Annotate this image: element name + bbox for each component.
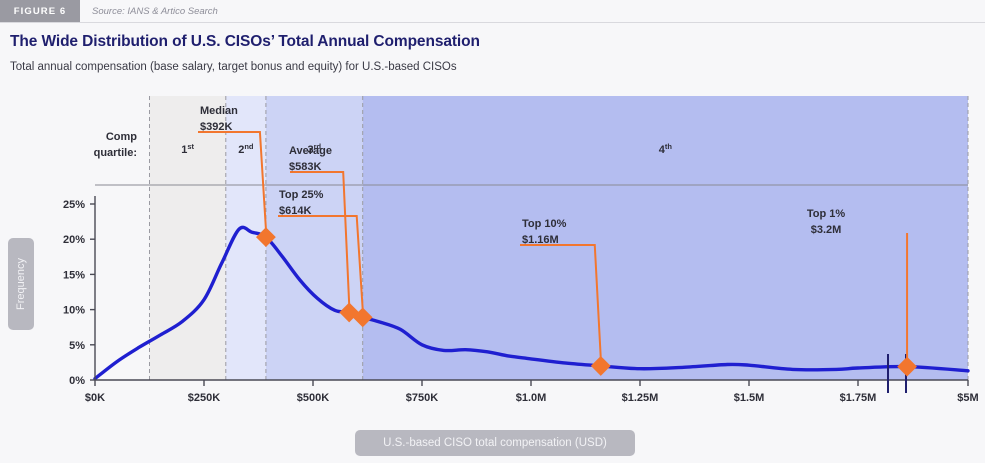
x-tick-label: $1.25M (622, 392, 659, 404)
annotation-value: $614K (279, 205, 311, 217)
annotation-name: Median (200, 105, 238, 117)
page-subtitle: Total annual compensation (base salary, … (10, 61, 457, 73)
y-tick-label: 5% (69, 340, 85, 352)
x-tick-label: $750K (406, 392, 438, 404)
y-tick-label: 10% (63, 305, 85, 317)
header-divider (0, 22, 985, 23)
annotation-name: Top 1% (807, 208, 846, 220)
figure-header: Figure 6 Source: IANS & Artico Search (0, 0, 985, 22)
x-tick-label: $500K (297, 392, 329, 404)
figure-badge: Figure 6 (0, 0, 80, 22)
comp-quartile-label-line2: quartile: (94, 147, 137, 159)
x-axis-caption-text: U.S.-based CISO total compensation (USD) (383, 437, 607, 449)
annotation-name: Average (289, 145, 332, 157)
annotation-name: Top 10% (522, 218, 567, 230)
x-tick-label: $0K (85, 392, 105, 404)
x-tick-label: $5M (957, 392, 978, 404)
y-tick-label: 25% (63, 199, 85, 211)
page-title: The Wide Distribution of U.S. CISOs’ Tot… (10, 33, 480, 51)
x-tick-label: $1.75M (840, 392, 877, 404)
annotation-value: $583K (289, 161, 321, 173)
x-axis-caption-chip: U.S.-based CISO total compensation (USD) (355, 430, 635, 456)
x-axis: $0K$250K$500K$750K$1.0M$1.25M$1.5M$1.75M… (85, 380, 979, 404)
annotation-value: $392K (200, 121, 232, 133)
distribution-chart: 1st2nd3rd4th Comp quartile: 0%5%10%15%20… (0, 92, 985, 412)
y-tick-label: 20% (63, 234, 85, 246)
annotation-value: $1.16M (522, 234, 559, 246)
y-tick-label: 15% (63, 269, 85, 281)
quartile-band-4th (363, 96, 968, 380)
chart-plot-area: 1st2nd3rd4th Comp quartile: 0%5%10%15%20… (0, 92, 985, 412)
comp-quartile-label-line1: Comp (106, 131, 137, 143)
figure-source: Source: IANS & Artico Search (80, 0, 218, 22)
annotation-name: Top 25% (279, 189, 324, 201)
annotation-value: $3.2M (811, 224, 842, 236)
x-tick-label: $1.5M (734, 392, 765, 404)
x-tick-label: $1.0M (516, 392, 547, 404)
y-tick-label: 0% (69, 375, 85, 387)
y-axis: 0%5%10%15%20%25% (63, 196, 95, 387)
x-tick-label: $250K (188, 392, 220, 404)
